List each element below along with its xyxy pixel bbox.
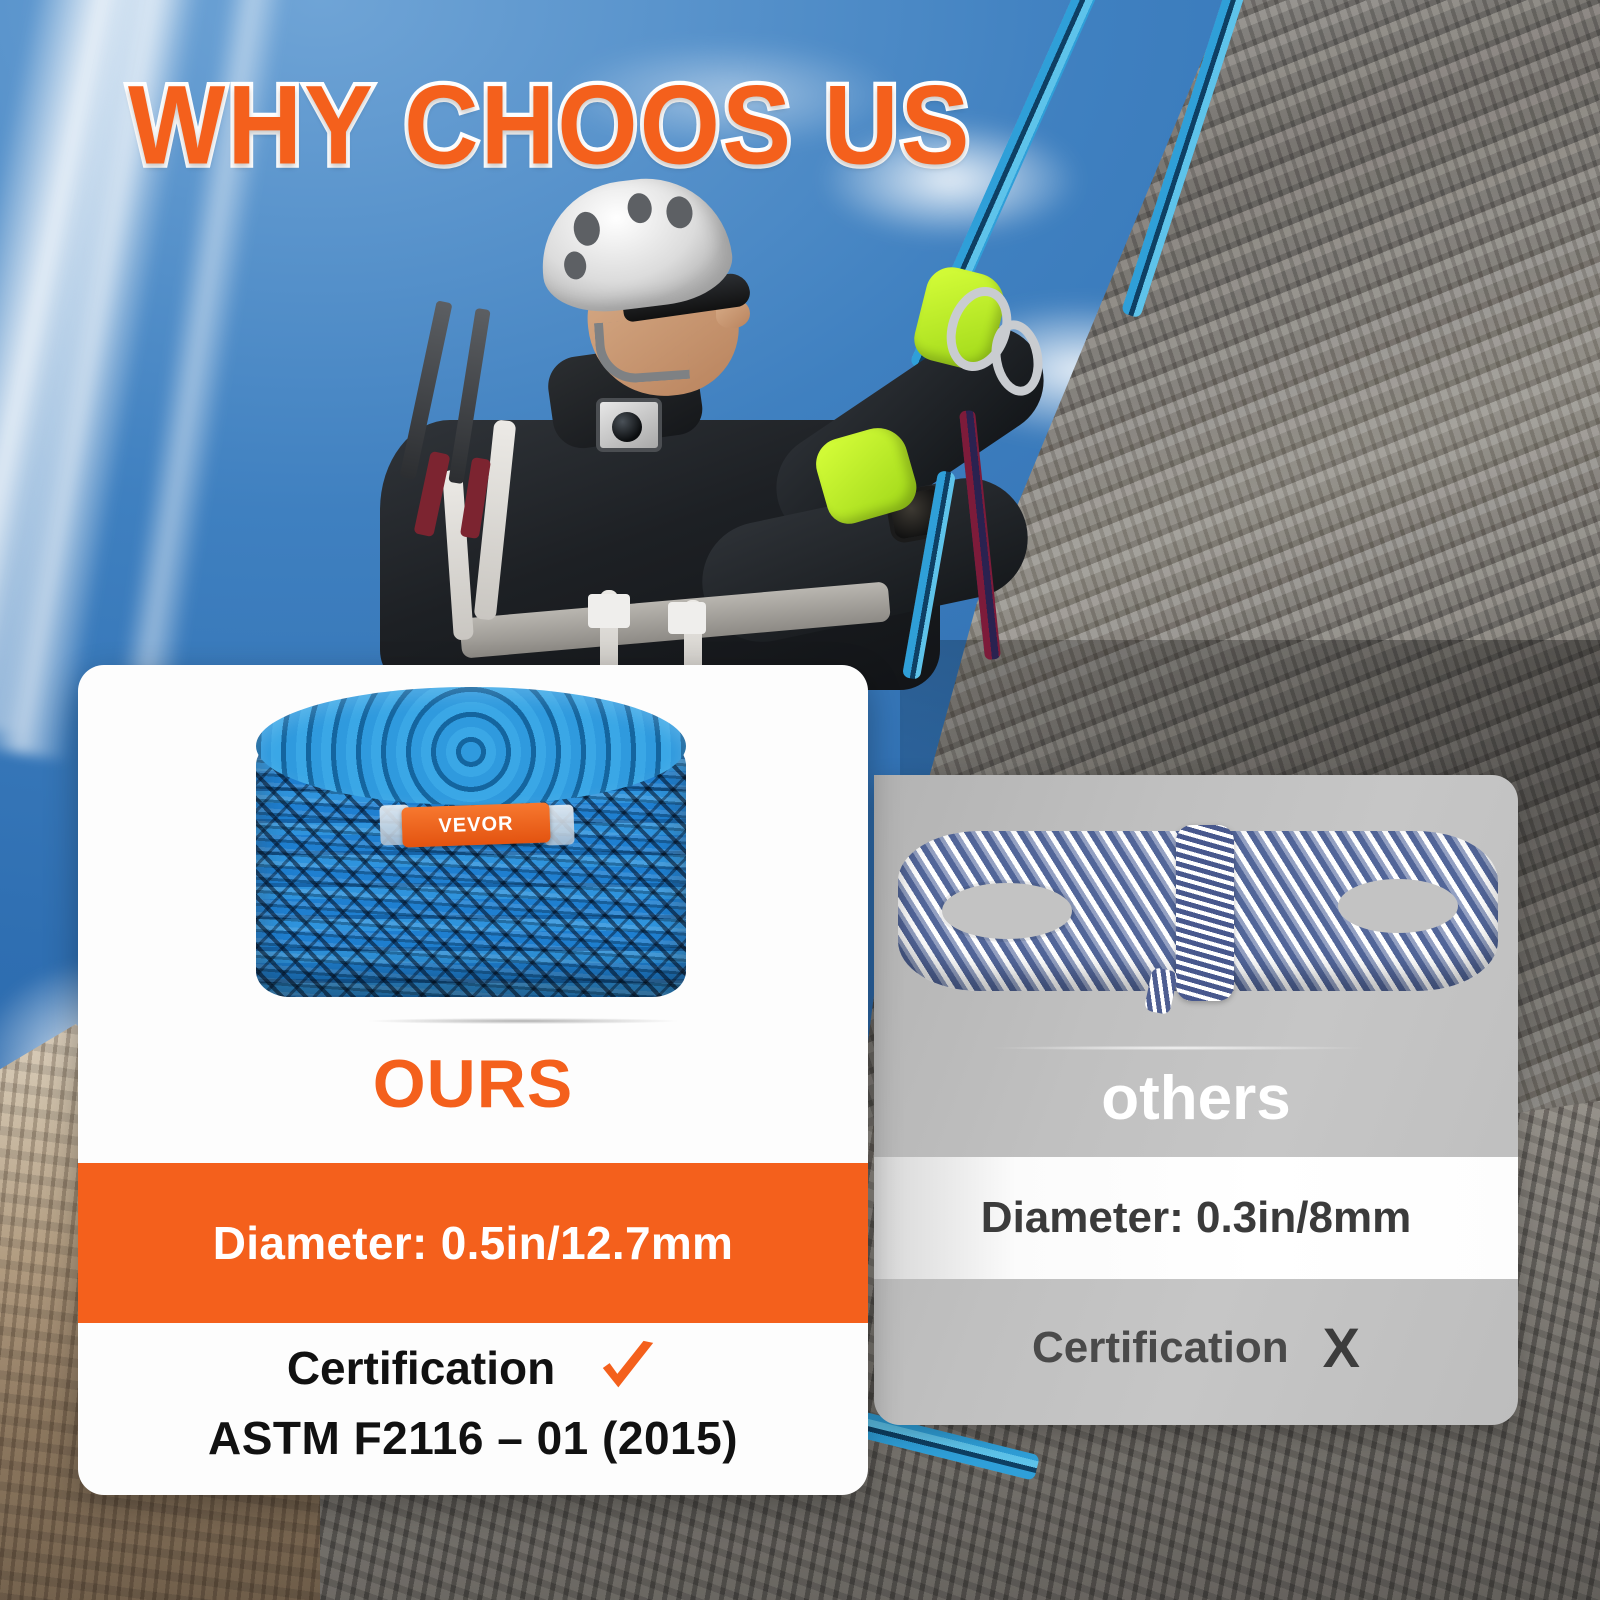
others-comparison-card: others Diameter: 0.3in/8mm Certification… bbox=[874, 775, 1518, 1425]
ours-diameter-band: Diameter: 0.5in/12.7mm bbox=[78, 1163, 868, 1323]
ours-title: OURS bbox=[78, 1045, 868, 1123]
harness-buckle bbox=[588, 594, 630, 628]
page-headline: WHY CHOOS US bbox=[128, 62, 972, 190]
ours-product-image: VEVOR bbox=[78, 665, 868, 1023]
ours-comparison-card: VEVOR OURS Diameter: 0.5in/12.7mm Certif… bbox=[78, 665, 868, 1495]
others-diameter-band: Diameter: 0.3in/8mm bbox=[874, 1157, 1518, 1279]
helmet-vent bbox=[572, 210, 602, 247]
others-divider bbox=[938, 1045, 1418, 1051]
others-title: others bbox=[874, 1063, 1518, 1134]
others-diameter-label: Diameter: 0.3in/8mm bbox=[981, 1193, 1411, 1243]
brand-tag-label: VEVOR bbox=[438, 812, 514, 838]
ours-certification-label: Certification bbox=[287, 1341, 555, 1395]
rope-coil: VEVOR bbox=[256, 687, 686, 1017]
camera-lens-icon bbox=[612, 412, 642, 442]
brand-tag: VEVOR bbox=[401, 802, 550, 847]
checkmark-icon bbox=[597, 1337, 659, 1399]
harness-buckle bbox=[668, 602, 706, 634]
ours-divider bbox=[323, 1017, 723, 1025]
ours-certification-code: ASTM F2116 – 01 (2015) bbox=[78, 1411, 868, 1465]
others-certification-label: Certification bbox=[1032, 1323, 1289, 1373]
ours-certification-row: Certification bbox=[78, 1337, 868, 1399]
others-product-image bbox=[898, 787, 1498, 1037]
climber-figure bbox=[400, 170, 1020, 670]
helmet-vent bbox=[563, 250, 588, 280]
helmet-vent bbox=[665, 195, 695, 230]
gopro-camera-icon bbox=[596, 398, 662, 452]
helmet-vent bbox=[626, 192, 653, 225]
ours-diameter-label: Diameter: 0.5in/12.7mm bbox=[213, 1216, 734, 1270]
rope-tie-wrap bbox=[1176, 825, 1234, 1001]
others-certification-row: Certification X bbox=[874, 1315, 1518, 1380]
x-mark-icon: X bbox=[1323, 1315, 1360, 1380]
rope-coil-top bbox=[256, 687, 686, 805]
